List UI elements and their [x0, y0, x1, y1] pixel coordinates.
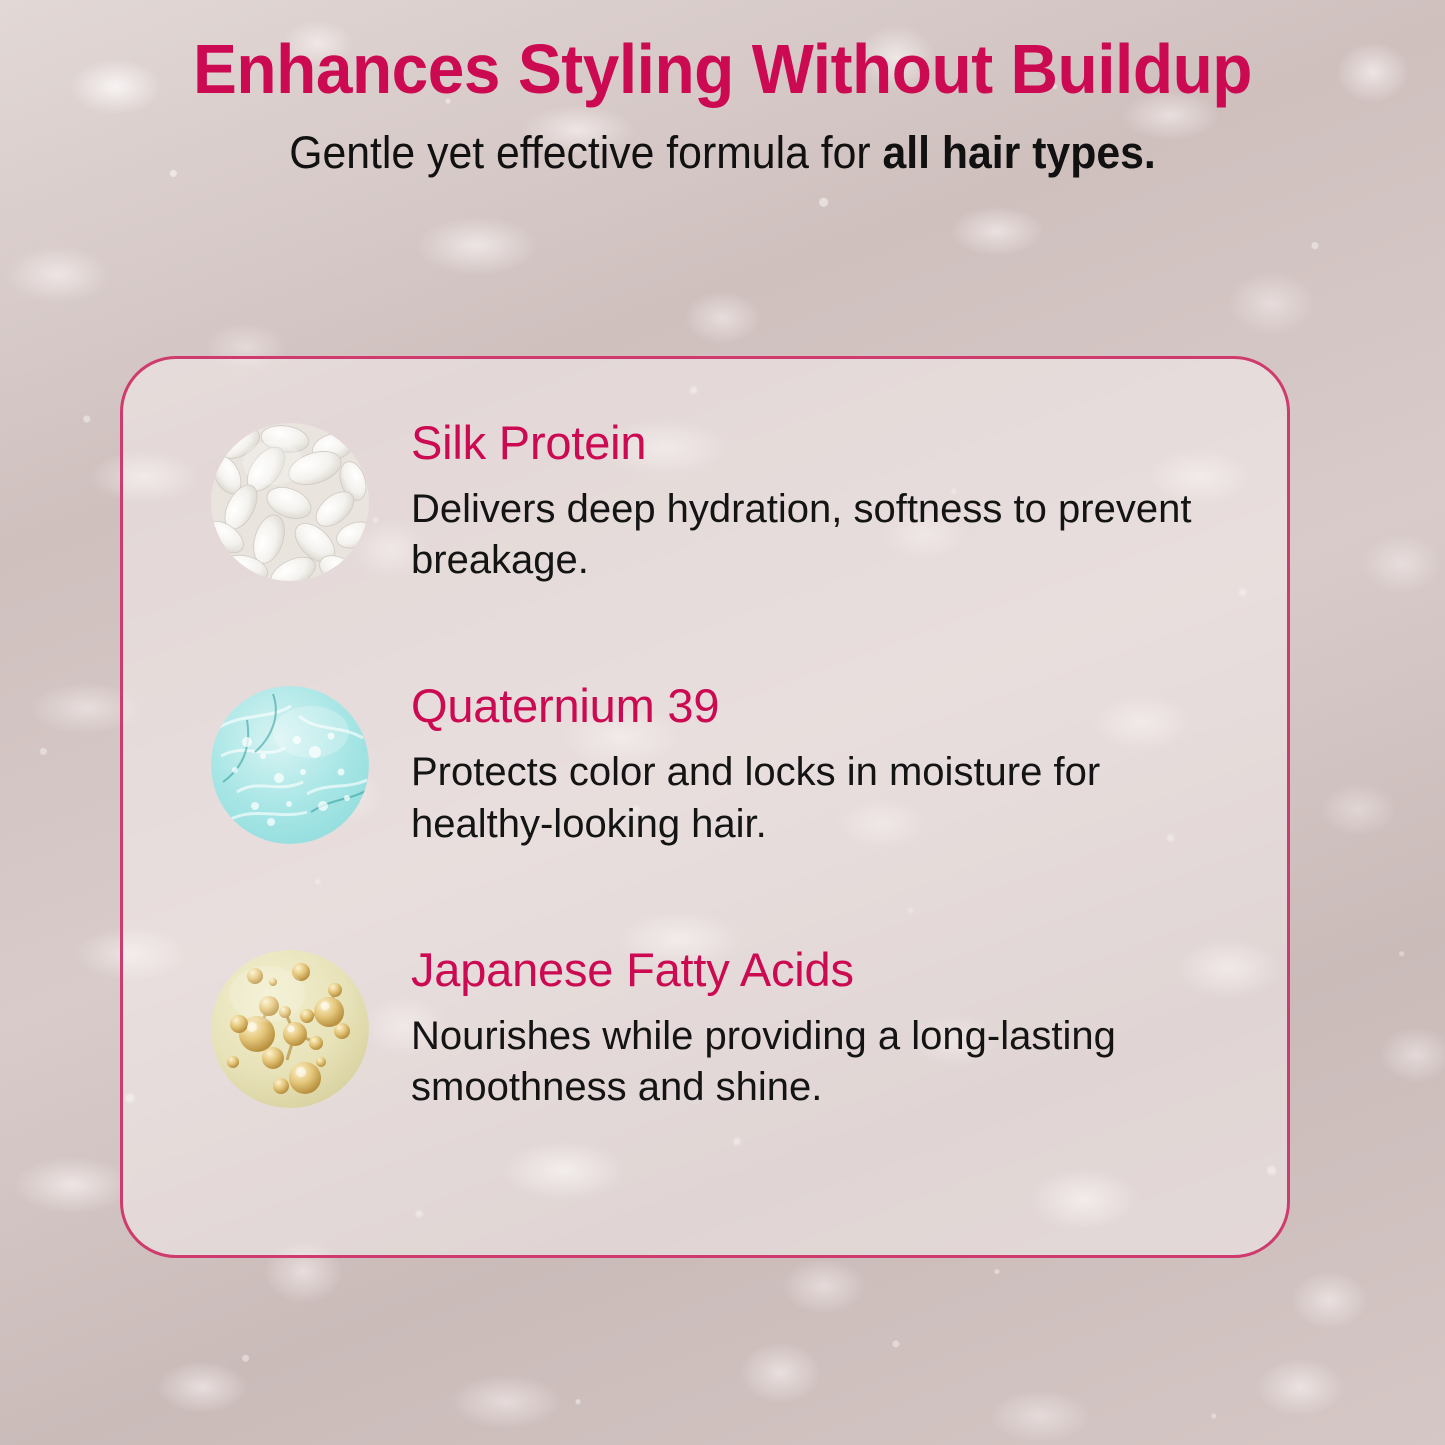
- feature-description: Delivers deep hydration, softness to pre…: [411, 484, 1235, 586]
- blue-gel-texture-icon: [211, 686, 369, 844]
- page-title: Enhances Styling Without Buildup: [43, 34, 1401, 104]
- feature-text-block: Japanese Fatty Acids Nourishes while pro…: [411, 944, 1235, 1113]
- header-block: Enhances Styling Without Buildup Gentle …: [0, 0, 1445, 175]
- gold-molecules-icon: [211, 950, 369, 1108]
- feature-item-quaternium-39: Quaternium 39 Protects color and locks i…: [211, 680, 1235, 849]
- silk-cocoons-icon: [211, 423, 369, 581]
- feature-text-block: Quaternium 39 Protects color and locks i…: [411, 680, 1235, 849]
- feature-description: Nourishes while providing a long-lasting…: [411, 1011, 1235, 1113]
- feature-list: Silk Protein Delivers deep hydration, so…: [123, 359, 1287, 1255]
- feature-title: Japanese Fatty Acids: [411, 946, 1235, 993]
- feature-text-block: Silk Protein Delivers deep hydration, so…: [411, 417, 1235, 586]
- subtitle-regular-part: Gentle yet effective formula for: [289, 127, 882, 178]
- feature-item-japanese-fatty-acids: Japanese Fatty Acids Nourishes while pro…: [211, 944, 1235, 1113]
- feature-card: Silk Protein Delivers deep hydration, so…: [120, 356, 1290, 1258]
- feature-item-silk-protein: Silk Protein Delivers deep hydration, so…: [211, 417, 1235, 586]
- feature-title: Quaternium 39: [411, 682, 1235, 729]
- feature-description: Protects color and locks in moisture for…: [411, 747, 1235, 849]
- page-subtitle: Gentle yet effective formula for all hai…: [36, 130, 1409, 175]
- feature-title: Silk Protein: [411, 419, 1235, 466]
- subtitle-bold-part: all hair types.: [883, 127, 1156, 178]
